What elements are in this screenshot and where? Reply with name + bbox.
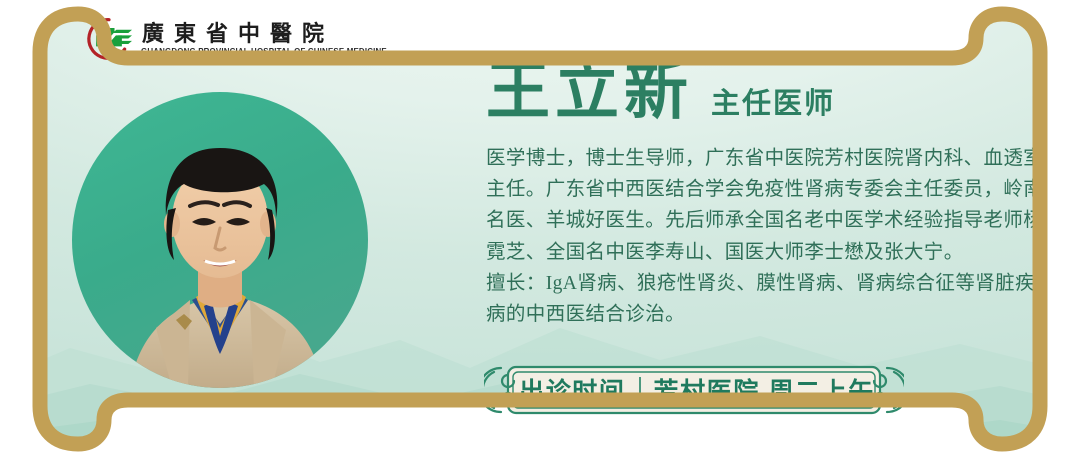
schedule-banner: 出诊时间 芳村医院 周二上午 (484, 362, 904, 418)
schedule-separator-icon (639, 377, 641, 404)
hospital-name-cn: 廣東省中醫院 (141, 22, 405, 46)
schedule-label: 出诊时间 (519, 372, 625, 408)
doctor-name-row: 王立新 主任医师 (486, 50, 1052, 124)
bio-line: 霓芝、全国名中医李寿山、国医大师李士懋及张大宁。 (486, 237, 1046, 268)
doctor-profile-card: 廣東省中醫院 GUANGDONG PROVINCIAL HOSPITAL OF … (0, 0, 1080, 458)
logo-text-block: 廣東省中醫院 GUANGDONG PROVINCIAL HOSPITAL OF … (141, 22, 405, 57)
hospital-cross-logo-icon (86, 16, 132, 62)
bio-line: 主任。广东省中西医结合学会免疫性肾病专委会主任委员，岭南 (486, 174, 1046, 205)
schedule-value: 芳村医院 周二上午 (654, 372, 875, 408)
bio-line: 名医、羊城好医生。先后师承全国名老中医学术经验指导老师杨 (486, 205, 1046, 236)
doctor-bio: 医学博士，博士生导师，广东省中医院芳村医院肾内科、血透室 主任。广东省中西医结合… (486, 143, 1046, 330)
doctor-rank: 主任医师 (711, 90, 835, 124)
hospital-logo: 廣東省中醫院 GUANGDONG PROVINCIAL HOSPITAL OF … (86, 16, 405, 62)
bio-line: 医学博士，博士生导师，广东省中医院芳村医院肾内科、血透室 (486, 143, 1046, 174)
schedule-text: 出诊时间 芳村医院 周二上午 (484, 362, 904, 418)
doctor-portrait (72, 92, 368, 388)
hospital-name-en: GUANGDONG PROVINCIAL HOSPITAL OF CHINESE… (141, 47, 387, 56)
doctor-name: 王立新 (486, 60, 693, 124)
bio-line: 病的中西医结合诊治。 (486, 299, 1046, 330)
bio-line: 擅长：IgA肾病、狼疮性肾炎、膜性肾病、肾病综合征等肾脏疾 (486, 268, 1046, 299)
doctor-info: 王立新 主任医师 医学博士，博士生导师，广东省中医院芳村医院肾内科、血透室 主任… (486, 50, 1052, 330)
doctor-portrait-icon (72, 92, 368, 388)
